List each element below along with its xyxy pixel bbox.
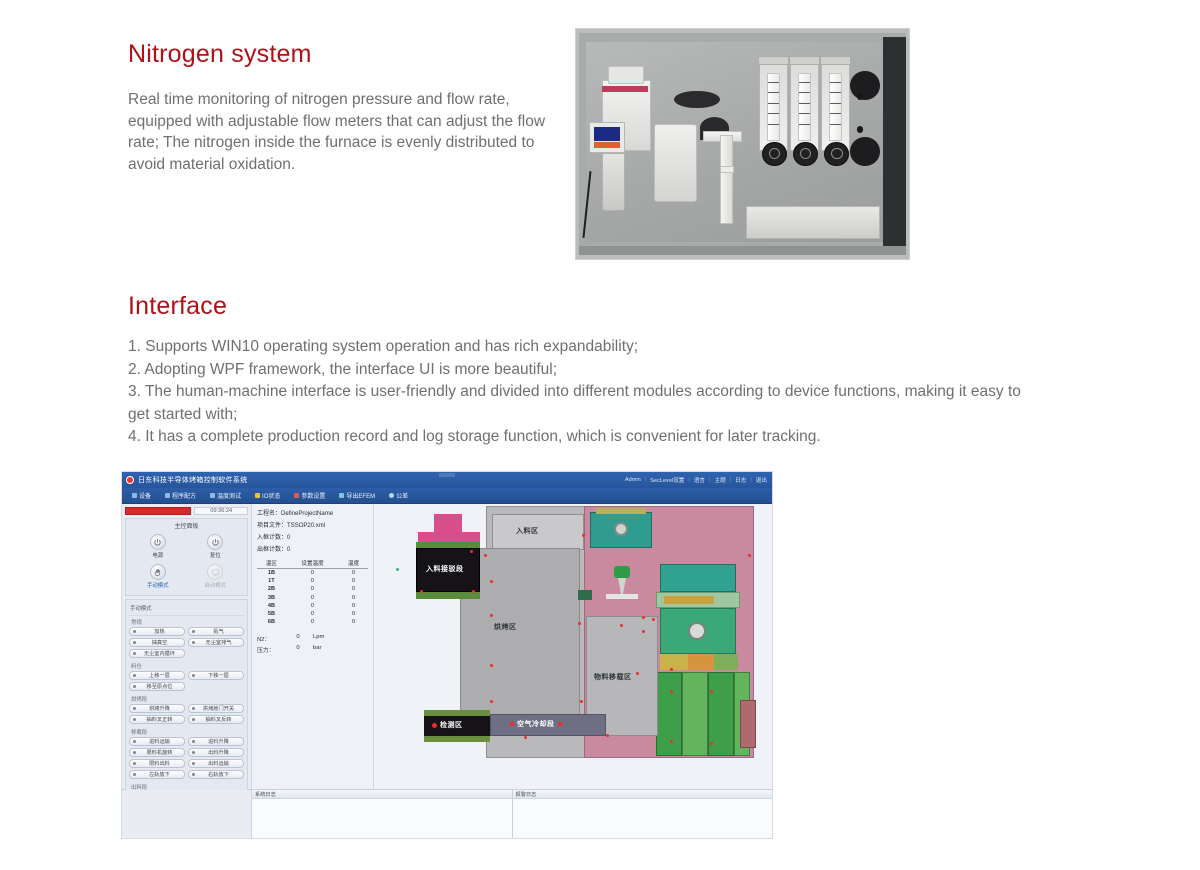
menu-label: 设备: [139, 491, 151, 500]
alarm-status-indicator: [125, 507, 191, 515]
btn-vacuum[interactable]: 抽真空: [129, 638, 185, 647]
status-dot-icon: [192, 674, 195, 677]
nitrogen-system-photo: [575, 28, 910, 260]
page-root: Nitrogen system Real time monitoring of …: [0, 0, 1200, 870]
magazine-subtitle: 料仓: [129, 661, 244, 671]
flow-meter-1: [759, 62, 788, 151]
sensor-dot: [710, 690, 713, 693]
log-area: 系统日志 报警日志: [122, 789, 772, 839]
incoming-pink-top: [418, 532, 480, 542]
btn-move-to-origin[interactable]: 移至原点位: [129, 682, 185, 691]
alarm-log-body[interactable]: [513, 799, 773, 839]
button-row: 抽料叉正转 抽料叉反转: [129, 715, 244, 724]
project-name-label: 工程名: [257, 511, 275, 517]
menu-item-device[interactable]: 设备: [132, 491, 151, 500]
app-title-bar: 日东科技半导体烤箱控制软件系统 Admin| SecLevel设置| 语言| 主…: [122, 472, 772, 488]
panel-oval-cutout: [674, 91, 720, 109]
right-red-panel: [740, 700, 756, 748]
sensor-dot: [670, 740, 673, 743]
power-label: 电源: [152, 551, 163, 559]
btn-outfeed-lift[interactable]: 出料升降: [188, 748, 244, 757]
sensor-dot: [636, 672, 639, 675]
pressure-label: 压力：: [257, 645, 283, 654]
status-dot-icon: [192, 707, 195, 710]
status-dot-icon: [133, 707, 136, 710]
status-row: 09:36:24: [125, 507, 248, 515]
status-dot-icon: [133, 718, 136, 721]
status-dot-icon: [133, 630, 136, 633]
sensor-dot: [580, 700, 583, 703]
reset-label: 复位: [210, 551, 221, 559]
btn-outfeed-conveyor[interactable]: 出料运输: [188, 759, 244, 768]
system-log-panel[interactable]: 系统日志: [252, 790, 513, 839]
button-row: 上移一层 下移一层: [129, 671, 244, 680]
cooling-dot-right-icon: [558, 722, 562, 726]
in-count-value: 0: [287, 535, 290, 541]
yellow-block-a: [660, 654, 688, 670]
green-board-2: [682, 672, 708, 756]
sensor-dot: [748, 554, 751, 557]
status-dot-icon: [133, 751, 136, 754]
status-dot-icon: [192, 762, 195, 765]
gold-strip: [664, 596, 714, 604]
status-dot-icon: [192, 630, 195, 633]
n2-label: N2：: [257, 634, 283, 643]
sensor-dot: [670, 690, 673, 693]
sensor-dot: [490, 580, 493, 583]
page-title-interface: Interface: [128, 292, 227, 321]
green-sensor: [614, 566, 630, 578]
exit-link[interactable]: 退出: [756, 476, 767, 484]
project-name-value: DefineProjectName: [281, 511, 333, 517]
btn-cleanroom-exhaust[interactable]: 无尘室排气: [188, 638, 244, 647]
temperature-icon: [210, 493, 215, 498]
table-row: 2B00: [257, 585, 368, 593]
device-icon: [132, 493, 137, 498]
baking-subtitle: 烘烤段: [129, 694, 244, 704]
divider: [129, 615, 244, 616]
in-count-label: 入框计数: [257, 535, 281, 541]
title-bar-actions: Admin| SecLevel设置| 语言| 主题| 日志| 退出: [625, 472, 767, 488]
reset-button-cell[interactable]: 复位: [187, 532, 245, 562]
flow-knob-1: [762, 142, 787, 166]
general-subtitle: 常规: [129, 617, 244, 627]
flow-knob-2: [793, 142, 818, 166]
button-row: 加热 氮气: [129, 627, 244, 636]
table-header-row: 温区 设置温度 温度: [257, 558, 368, 569]
flow-meter-3: [821, 62, 850, 151]
app-body: 09:36:24 主控面板 电源: [122, 504, 772, 789]
sensor-dot: [484, 554, 487, 557]
interface-description: 1. Supports WIN10 operating system opera…: [128, 336, 1028, 449]
btn-limiter-outfeed[interactable]: 限料出料: [129, 759, 185, 768]
manual-mode-label: 手动模式: [147, 581, 169, 589]
btn-bake-door[interactable]: 烘烤舱门开关: [188, 704, 244, 713]
indicator-dot-1: [857, 93, 864, 100]
button-row: 进料运输 进料升降: [129, 737, 244, 746]
table-row: 4B00: [257, 602, 368, 610]
interface-line-2: 2. Adopting WPF framework, the interface…: [128, 359, 1028, 382]
app-logo-icon: [126, 476, 134, 484]
log-left-spacer: [122, 790, 252, 839]
table-row: 1T00: [257, 577, 368, 585]
btn-infeed-conveyor[interactable]: 进料运输: [129, 737, 185, 746]
out-count-label: 出框计数: [257, 547, 281, 553]
gauge-1: [850, 71, 879, 100]
status-dot-icon: [192, 751, 195, 754]
btn-fork-reverse[interactable]: 抽料叉反转: [188, 715, 244, 724]
filter-bowl: [602, 153, 625, 211]
hand-icon: [150, 564, 166, 580]
menu-label: 公差: [396, 491, 408, 500]
menu-item-recipe[interactable]: 程序配方: [165, 491, 196, 500]
sensor-dot: [578, 622, 581, 625]
gauge-2: [850, 137, 879, 166]
out-count-value: 0: [287, 547, 290, 553]
language-link[interactable]: 语言: [694, 476, 705, 484]
zone-label-baking: 烘烤区: [494, 622, 517, 632]
green-board-1: [656, 672, 682, 756]
gas-readout-block: N2： 0 Lpm 压力： 0 bar: [257, 634, 368, 654]
manual-mode-panel: 手动模式 常规 加热 氮气 抽真空 无尘室排气 无尘室内循环 料仓: [125, 599, 248, 806]
table-row: 1B00: [257, 569, 368, 578]
orange-block: [688, 654, 714, 670]
pressure-unit: bar: [313, 645, 321, 654]
teal-module-dial: [614, 522, 628, 536]
regulator-cap: [608, 66, 644, 84]
project-file-label: 项目文件: [257, 523, 281, 529]
regulator-pink-band: [602, 86, 648, 92]
btn-move-down-layer[interactable]: 下移一层: [188, 671, 244, 680]
menu-label: 参数设置: [301, 491, 325, 500]
btn-bake-lift[interactable]: 烘烤升降: [129, 704, 185, 713]
btn-left-rail-down[interactable]: 左轨放下: [129, 770, 185, 779]
green-block-a: [714, 654, 738, 670]
col-temp: 温度: [339, 558, 368, 569]
sensor-dot: [490, 614, 493, 617]
main-control-panel: 主控面板 电源 复位: [125, 518, 248, 596]
sensor-dot-green: [396, 568, 399, 571]
col-set-temp: 设置温度: [286, 558, 339, 569]
menu-label: 温度测试: [217, 491, 241, 500]
system-log-body[interactable]: [252, 799, 512, 839]
metal-tray: [746, 206, 880, 239]
recipe-icon: [165, 493, 170, 498]
status-dot-icon: [192, 718, 195, 721]
sensor-dot: [420, 590, 423, 593]
out-count-line: 出框计数：0: [257, 544, 368, 553]
alarm-log-header: 报警日志: [513, 790, 773, 799]
sensor-dot: [620, 624, 623, 627]
pipe-nut: [720, 166, 735, 173]
btn-fork-forward[interactable]: 抽料叉正转: [129, 715, 185, 724]
in-count-line: 入框计数：0: [257, 532, 368, 541]
zone-label-material-transfer: 物料移载区: [594, 672, 632, 682]
sensor-dot: [670, 668, 673, 671]
table-row: 6B00: [257, 618, 368, 626]
small-green-block: [578, 590, 592, 600]
sensor-dot: [652, 618, 655, 621]
sensor-base: [606, 594, 638, 599]
interface-line-1: 1. Supports WIN10 operating system opera…: [128, 336, 1028, 359]
yellow-bar: [596, 508, 646, 514]
app-title-text: 日东科技半导体烤箱控制软件系统: [138, 475, 248, 485]
menu-item-tolerance[interactable]: 公差: [389, 491, 408, 500]
btn-limiter-rotate[interactable]: 限料机旋转: [129, 748, 185, 757]
inspection-strip-bottom: [424, 736, 490, 742]
button-row: 抽真空 无尘室排气: [129, 638, 244, 647]
sensor-dot: [490, 700, 493, 703]
zone-label-loading: 入料区: [516, 526, 539, 536]
status-dot-icon: [192, 740, 195, 743]
button-row: 烘烤升降 烘烤舱门开关: [129, 704, 244, 713]
status-dot-icon: [133, 740, 136, 743]
photo-frame: [579, 33, 906, 255]
seclevel-link[interactable]: SecLevel设置: [650, 476, 684, 484]
menu-label: 程序配方: [172, 491, 196, 500]
project-file-value: TSSOP20.xml: [287, 523, 325, 529]
status-dot-icon: [133, 762, 136, 765]
control-software-screenshot: 日东科技半导体烤箱控制软件系统 Admin| SecLevel设置| 语言| 主…: [121, 471, 773, 839]
button-row: 限料出料 出料运输: [129, 759, 244, 768]
project-file-line: 项目文件：TSSOP20.xml: [257, 520, 368, 529]
n2-value: 0: [283, 634, 313, 643]
sensor-dot: [642, 616, 645, 619]
status-dot-icon: [192, 641, 195, 644]
clock-display: 09:36:24: [194, 507, 248, 515]
status-dot-icon: [133, 641, 136, 644]
menu-item-parameters[interactable]: 参数设置: [294, 491, 325, 500]
sensor-dot: [472, 590, 475, 593]
tolerance-icon: [389, 493, 394, 498]
menu-item-temperature-test[interactable]: 温度测试: [210, 491, 241, 500]
btn-infeed-lift[interactable]: 进料升降: [188, 737, 244, 746]
button-row: 左轨放下 右轨放下: [129, 770, 244, 779]
table-row: 5B00: [257, 610, 368, 618]
incoming-green-strip-bottom: [416, 592, 480, 599]
btn-heat[interactable]: 加热: [129, 627, 185, 636]
sensor-dot: [582, 534, 585, 537]
project-info-column: 工程名：DefineProjectName 项目文件：TSSOP20.xml 入…: [252, 504, 374, 789]
manual-mode-group-title: 手动模式: [129, 602, 244, 613]
pressure-value: 0: [283, 645, 313, 654]
btn-right-rail-down[interactable]: 右轨放下: [188, 770, 244, 779]
theme-link[interactable]: 主题: [714, 476, 725, 484]
alarm-log-panel[interactable]: 报警日志: [513, 790, 773, 839]
project-name-line: 工程名：DefineProjectName: [257, 508, 368, 517]
menu-item-io-status[interactable]: IO状态: [255, 491, 280, 500]
auto-mode-cell[interactable]: 自动模式: [187, 562, 245, 592]
inspection-dot-icon: [432, 723, 437, 728]
machine-diagram[interactable]: 入料接驳段 检测区 空气冷却段 入料区 烘烤区: [374, 504, 772, 789]
menu-item-efem[interactable]: 导出EFEM: [339, 491, 375, 500]
menu-label: IO状态: [262, 491, 280, 500]
app-menu-bar: 设备 程序配方 温度测试 IO状态 参数设置 导出EFEM: [122, 488, 772, 504]
zone-label-inspection: 检测区: [432, 720, 463, 730]
table-row: 3B00: [257, 594, 368, 602]
sensor-dot: [470, 550, 473, 553]
panel-dark-strip: [883, 37, 906, 250]
zone-label-incoming-transfer: 入料接驳段: [426, 564, 464, 574]
page-title-nitrogen: Nitrogen system: [128, 40, 312, 69]
power-button-cell[interactable]: 电源: [129, 532, 187, 562]
parameters-icon: [294, 493, 299, 498]
auto-mode-label: 自动模式: [204, 581, 226, 589]
menu-label: 导出EFEM: [346, 491, 375, 500]
panel-bottom-band: [579, 246, 906, 255]
status-dot-icon: [133, 773, 136, 776]
efem-icon: [339, 493, 344, 498]
reset-icon: [207, 534, 223, 550]
log-link[interactable]: 日志: [735, 476, 746, 484]
power-icon: [150, 534, 166, 550]
button-row: 移至原点位: [129, 682, 244, 691]
zone-label-air-cooling: 空气冷却段: [510, 719, 562, 729]
io-status-icon: [255, 493, 260, 498]
sensor-dot: [606, 734, 609, 737]
monitor-icon: [207, 564, 223, 580]
pipe-vertical: [720, 135, 733, 224]
temperature-table: 温区 设置温度 温度 1B00 1T00 2B00 3B00 4B00 5B00: [257, 558, 368, 626]
teal-module-mid-dial: [688, 622, 706, 640]
interface-line-3: 3. The human-machine interface is user-f…: [128, 381, 1028, 426]
status-dot-icon: [133, 685, 136, 688]
sensor-dot: [490, 664, 493, 667]
nitrogen-description: Real time monitoring of nitrogen pressur…: [128, 89, 568, 175]
manual-mode-cell[interactable]: 手动模式: [129, 562, 187, 592]
main-control-panel-title: 主控面板: [129, 521, 244, 530]
cooling-dot-left-icon: [510, 722, 514, 726]
account-label[interactable]: Admin: [625, 477, 641, 483]
button-row: 无尘室内循环: [129, 649, 244, 658]
status-dot-icon: [192, 773, 195, 776]
n2-unit: Lpm: [313, 634, 324, 643]
pressure-row: 压力： 0 bar: [257, 645, 368, 654]
status-dot-icon: [133, 652, 136, 655]
flow-knob-3: [824, 142, 849, 166]
n2-flow-row: N2： 0 Lpm: [257, 634, 368, 643]
btn-move-up-layer[interactable]: 上移一层: [129, 671, 185, 680]
system-log-header: 系统日志: [252, 790, 512, 799]
flow-meter-2: [790, 62, 819, 151]
sensor-dot: [710, 742, 713, 745]
sensor-dot: [642, 630, 645, 633]
interface-line-4: 4. It has a complete production record a…: [128, 426, 1028, 449]
digital-display: [589, 122, 625, 153]
white-tank: [654, 124, 697, 202]
teal-module-mid-top: [660, 564, 736, 592]
button-row: 限料机旋转 出料升降: [129, 748, 244, 757]
status-dot-icon: [133, 674, 136, 677]
btn-nitrogen[interactable]: 氮气: [188, 627, 244, 636]
btn-cleanroom-circulation[interactable]: 无尘室内循环: [129, 649, 185, 658]
transfer-subtitle: 移载段: [129, 727, 244, 737]
control-panel-column: 09:36:24 主控面板 电源: [122, 504, 252, 789]
col-zone: 温区: [257, 558, 286, 569]
window-controls[interactable]: [439, 473, 455, 477]
sensor-dot: [524, 736, 527, 739]
